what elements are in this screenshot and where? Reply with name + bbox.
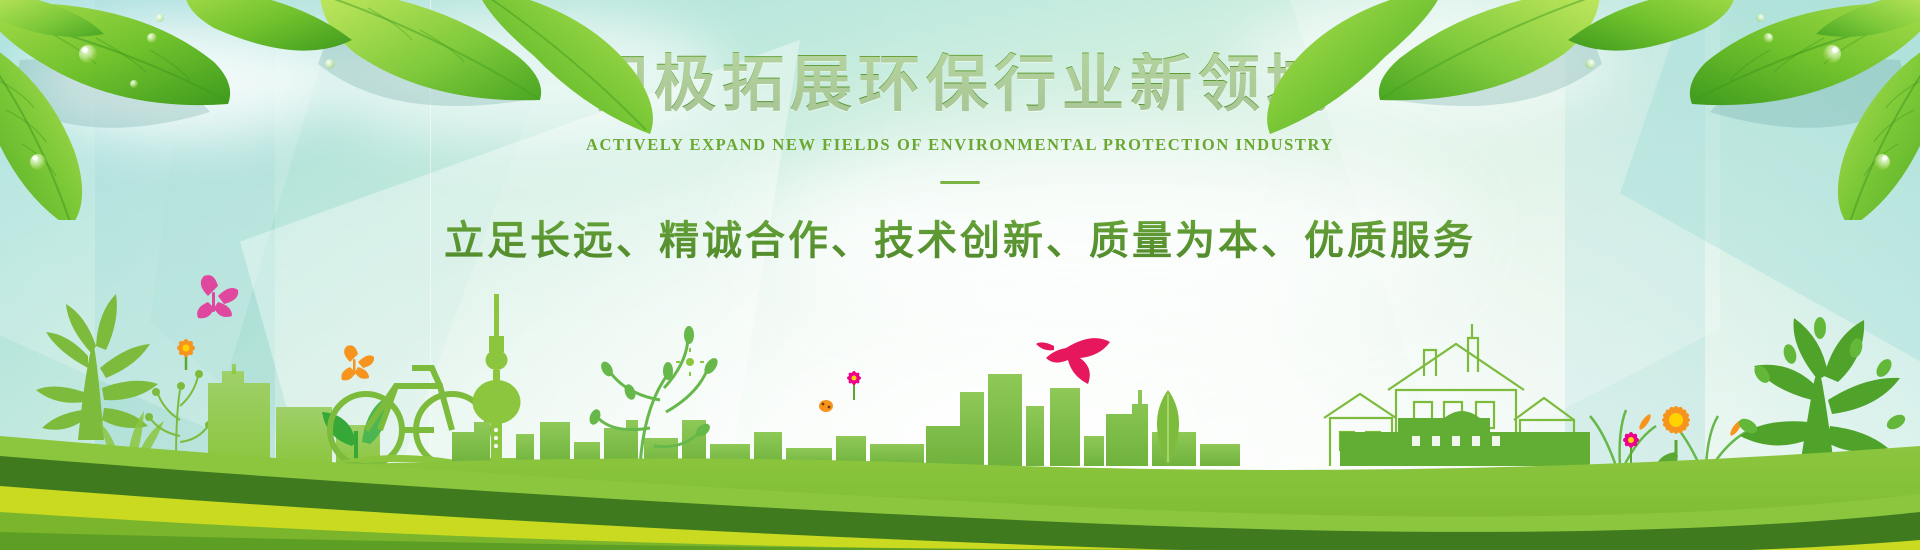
environmental-banner: 积极拓展环保行业新领域 ACTIVELY EXPAND NEW FIELDS O…	[0, 0, 1920, 550]
ladybug-icon	[819, 400, 833, 412]
banner-text-block: 积极拓展环保行业新领域 ACTIVELY EXPAND NEW FIELDS O…	[0, 52, 1920, 266]
page-subtitle: ACTIVELY EXPAND NEW FIELDS OF ENVIRONMEN…	[0, 135, 1920, 155]
butterfly-icon	[197, 275, 238, 318]
divider	[940, 181, 980, 184]
flower-icon	[676, 348, 704, 376]
flower-icon	[177, 339, 195, 370]
page-title: 积极拓展环保行业新领域	[0, 52, 1920, 119]
butterfly-icon	[341, 345, 374, 380]
flower-icon	[847, 371, 861, 400]
page-tagline: 立足长远、精诚合作、技术创新、质量为本、优质服务	[0, 208, 1920, 266]
bird-icon	[1036, 338, 1110, 384]
